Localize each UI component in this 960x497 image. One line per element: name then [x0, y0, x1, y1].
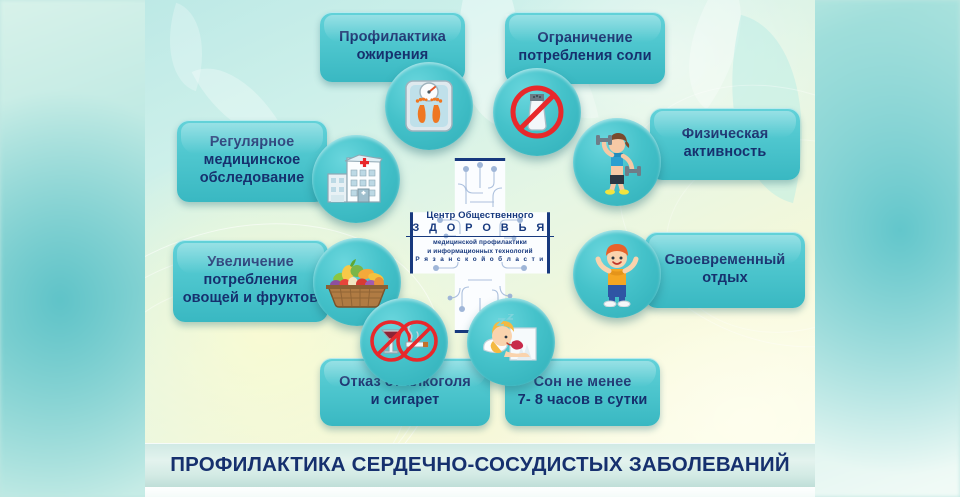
logo-divider [406, 236, 554, 237]
poster-panel: Центр Общественного З Д О Р О В Ь Я меди… [145, 0, 815, 497]
card-activity[interactable]: Физическаяактивность [650, 108, 800, 180]
card-vegetables[interactable]: Увеличениепотребленияовощей и фруктов [173, 240, 328, 322]
logo-text-block: Центр Общественного З Д О Р О В Ь Я меди… [394, 210, 566, 265]
logo-line-4: и информационных технологий [394, 248, 566, 257]
sleeping-person-icon[interactable] [467, 298, 555, 386]
card-rest[interactable]: Своевременныйотдых [645, 232, 805, 308]
card-vegetables-label: Увеличениепотребленияовощей и фруктов [183, 254, 319, 307]
card-activity-label: Физическаяактивность [682, 126, 769, 161]
infographic-poster: Центр Общественного З Д О Р О В Ь Я меди… [0, 0, 960, 497]
banner-bottom-strip [145, 487, 815, 497]
hospital-icon[interactable] [312, 135, 400, 223]
logo-line-3: медицинской профилактики [394, 239, 566, 248]
logo-line-5: Р я з а н с к о й о б л а с т и [394, 256, 566, 265]
page-title: ПРОФИЛАКТИКА СЕРДЕЧНО-СОСУДИСТЫХ ЗАБОЛЕВ… [170, 453, 790, 477]
weight-scale-icon[interactable] [385, 62, 473, 150]
logo-line-1: Центр Общественного [394, 210, 566, 221]
card-obesity-label: Профилактикаожирения [339, 29, 446, 64]
happy-child-icon[interactable] [573, 230, 661, 318]
card-checkup[interactable]: Регулярноемедицинскоеобследование [177, 120, 327, 202]
no-salt-icon[interactable] [493, 68, 581, 156]
card-rest-label: Своевременныйотдых [665, 252, 786, 287]
logo-line-2: З Д О Р О В Ь Я [394, 222, 566, 234]
exercise-woman-icon[interactable] [573, 118, 661, 206]
card-checkup-label: Регулярноемедицинскоеобследование [200, 134, 305, 187]
bottom-banner: ПРОФИЛАКТИКА СЕРДЕЧНО-СОСУДИСТЫХ ЗАБОЛЕВ… [145, 443, 815, 487]
no-alcohol-no-smoking-icon[interactable] [360, 298, 448, 386]
card-salt-label: Ограничениепотребления соли [518, 30, 651, 65]
card-sleep-label: Сон не менее7- 8 часов в сутки [518, 374, 648, 409]
